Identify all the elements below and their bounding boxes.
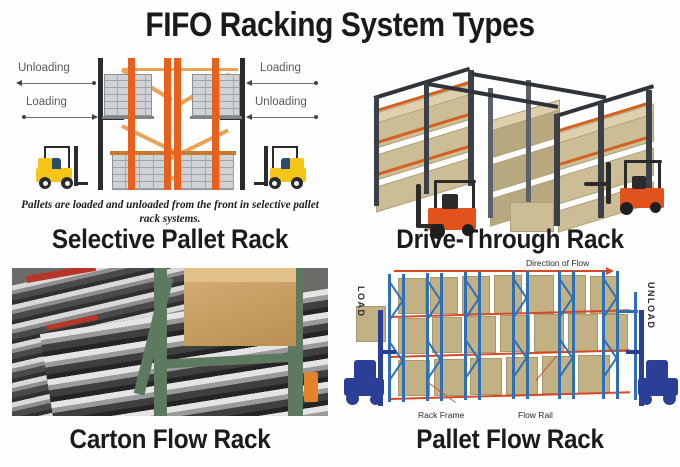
pf-pallet-mid-7 <box>602 314 628 352</box>
forklift-blue-load-cab <box>354 360 376 380</box>
annotation-left-loading: Loading <box>26 96 67 108</box>
pf-pallet-top-5 <box>526 275 554 314</box>
pallet-lower-right <box>178 154 234 190</box>
panel-carton-flow-rack: Carton Flow Rack <box>0 252 340 467</box>
forklift-blue-load-fork <box>378 350 396 354</box>
forklift-blue-load <box>342 358 398 414</box>
panel-label-carton-flow-rack: Carton Flow Rack <box>17 424 323 455</box>
forklift-orange-right-post-b <box>658 160 661 190</box>
pf-frame-2b <box>440 273 443 401</box>
page-title: FIFO Racking System Types <box>41 6 639 45</box>
forklift-orange-front-post-a <box>434 180 437 210</box>
forklift-blue-load-wheel-rear <box>346 392 359 405</box>
arrow-right-unloading-dot <box>314 115 318 119</box>
arrow-left-loading-dot <box>22 115 26 119</box>
forklift-orange-right-wheel-front <box>620 202 633 215</box>
forklift-left-fork <box>74 182 88 185</box>
direction-of-flow-label: Direction of Flow <box>526 258 589 268</box>
unload-label: UNLOAD <box>646 282 656 330</box>
pf-frame-4 <box>512 271 515 399</box>
arrow-right-loading-dot <box>314 81 318 85</box>
forklift-right-wheel-front <box>291 177 303 189</box>
flow-rail-callout: Flow Rail <box>518 410 553 420</box>
arrow-right-loading-head <box>246 80 252 86</box>
forklift-right-counterweight <box>290 158 304 170</box>
fifo-racking-infographic: FIFO Racking System Types Unloading Load… <box>0 0 680 467</box>
forklift-left-counterweight <box>38 158 52 170</box>
load-label: LOAD <box>356 286 366 318</box>
annotation-right-unloading: Unloading <box>255 96 307 108</box>
forklift-blue-unload <box>624 358 680 414</box>
iso-column-mid-1 <box>488 88 493 218</box>
annotation-left-unloading: Unloading <box>18 62 70 74</box>
arrow-right-unloading-line <box>252 117 318 118</box>
forklift-orange-right-seat <box>632 176 646 189</box>
pf-frame-5 <box>558 271 561 399</box>
rack-outer-post-right <box>240 58 245 190</box>
panel-label-pallet-flow-rack: Pallet Flow Rack <box>357 424 663 455</box>
direction-of-flow-line <box>394 270 608 272</box>
pallet-lower-left <box>112 154 168 190</box>
drive-through-illustration <box>340 52 680 248</box>
forklift-blue-unload-cab <box>646 360 668 380</box>
forklift-left-wheel-front <box>39 177 51 189</box>
panel-pallet-flow-rack: Direction of Flow <box>340 252 680 467</box>
forklift-right <box>258 144 314 190</box>
forklift-right-seat <box>281 158 290 169</box>
forklift-right-wheel-rear <box>269 177 281 189</box>
iso-column-front-1 <box>554 114 560 226</box>
forklift-orange-right <box>598 160 670 222</box>
forklift-orange-right-wheel-rear <box>650 202 661 213</box>
pf-frame-6 <box>602 271 605 399</box>
iso-column-back-1 <box>374 96 379 206</box>
panel-label-selective-pallet-rack: Selective Pallet Rack <box>17 224 323 255</box>
pf-frame-3b <box>478 272 481 400</box>
selective-rack-caption: Pallets are loaded and unloaded from the… <box>18 198 322 226</box>
forklift-orange-right-fork <box>584 182 610 186</box>
forklift-blue-unload-fork <box>626 350 644 354</box>
forklift-orange-right-guard <box>624 160 662 163</box>
panel-label-drive-through-rack: Drive-Through Rack <box>357 224 663 255</box>
rack-upright-1 <box>128 58 135 190</box>
forklift-orange-front-post-b <box>472 180 475 210</box>
selective-rack-illustration: Unloading Loading Loading Unloading <box>0 52 340 202</box>
panel-drive-through-rack: Drive-Through Rack <box>340 52 680 252</box>
forklift-left <box>28 144 84 190</box>
rack-upright-2 <box>164 58 171 190</box>
carton-flow-photo <box>12 268 328 416</box>
pf-frame-1b <box>402 274 405 402</box>
arrow-left-loading-line <box>22 117 94 118</box>
arrow-left-unloading-head <box>16 80 22 86</box>
arrow-right-unloading-head <box>246 114 252 120</box>
forklift-blue-unload-wheel-front <box>641 394 652 405</box>
iso-column-back-2 <box>424 82 429 194</box>
rack-upright-4 <box>212 58 219 190</box>
forklift-left-seat <box>52 158 61 169</box>
iso-column-back-3 <box>468 70 474 186</box>
direction-of-flow-head <box>606 267 614 275</box>
arrow-left-unloading-line <box>22 83 94 84</box>
pf-pallet-mid-2 <box>432 317 462 353</box>
forklift-orange-front-seat <box>442 194 458 209</box>
photo-carton-flap <box>184 268 296 282</box>
forklift-blue-unload-wheel-rear <box>663 392 676 405</box>
forklift-left-mast <box>74 146 78 186</box>
annotation-right-loading: Loading <box>260 62 301 74</box>
forklift-orange-front-mast <box>416 184 421 228</box>
forklift-orange-right-post-a <box>624 160 627 190</box>
photo-orange-tag <box>304 372 318 402</box>
forklift-left-wheel-rear <box>61 177 73 189</box>
pf-frame-3 <box>464 272 467 400</box>
rack-frame-callout: Rack Frame <box>418 410 464 420</box>
forklift-right-mast <box>264 146 268 186</box>
photo-carton <box>184 268 296 346</box>
pallet-flow-illustration: Direction of Flow <box>340 252 680 442</box>
panel-selective-pallet-rack: Unloading Loading Loading Unloading <box>0 52 340 252</box>
arrow-right-loading-line <box>252 83 318 84</box>
pf-frame-6b <box>616 271 619 399</box>
pf-frame-4b <box>526 271 529 399</box>
arrow-left-unloading-dot <box>92 81 96 85</box>
forklift-right-fork <box>254 182 268 185</box>
pf-arm-unload <box>618 310 638 313</box>
forklift-blue-load-wheel-front <box>370 394 381 405</box>
rack-outer-post-left <box>98 58 103 190</box>
pf-frame-5b <box>572 271 575 399</box>
forklift-orange-front-guard <box>434 180 476 183</box>
rack-upright-3 <box>174 58 181 190</box>
